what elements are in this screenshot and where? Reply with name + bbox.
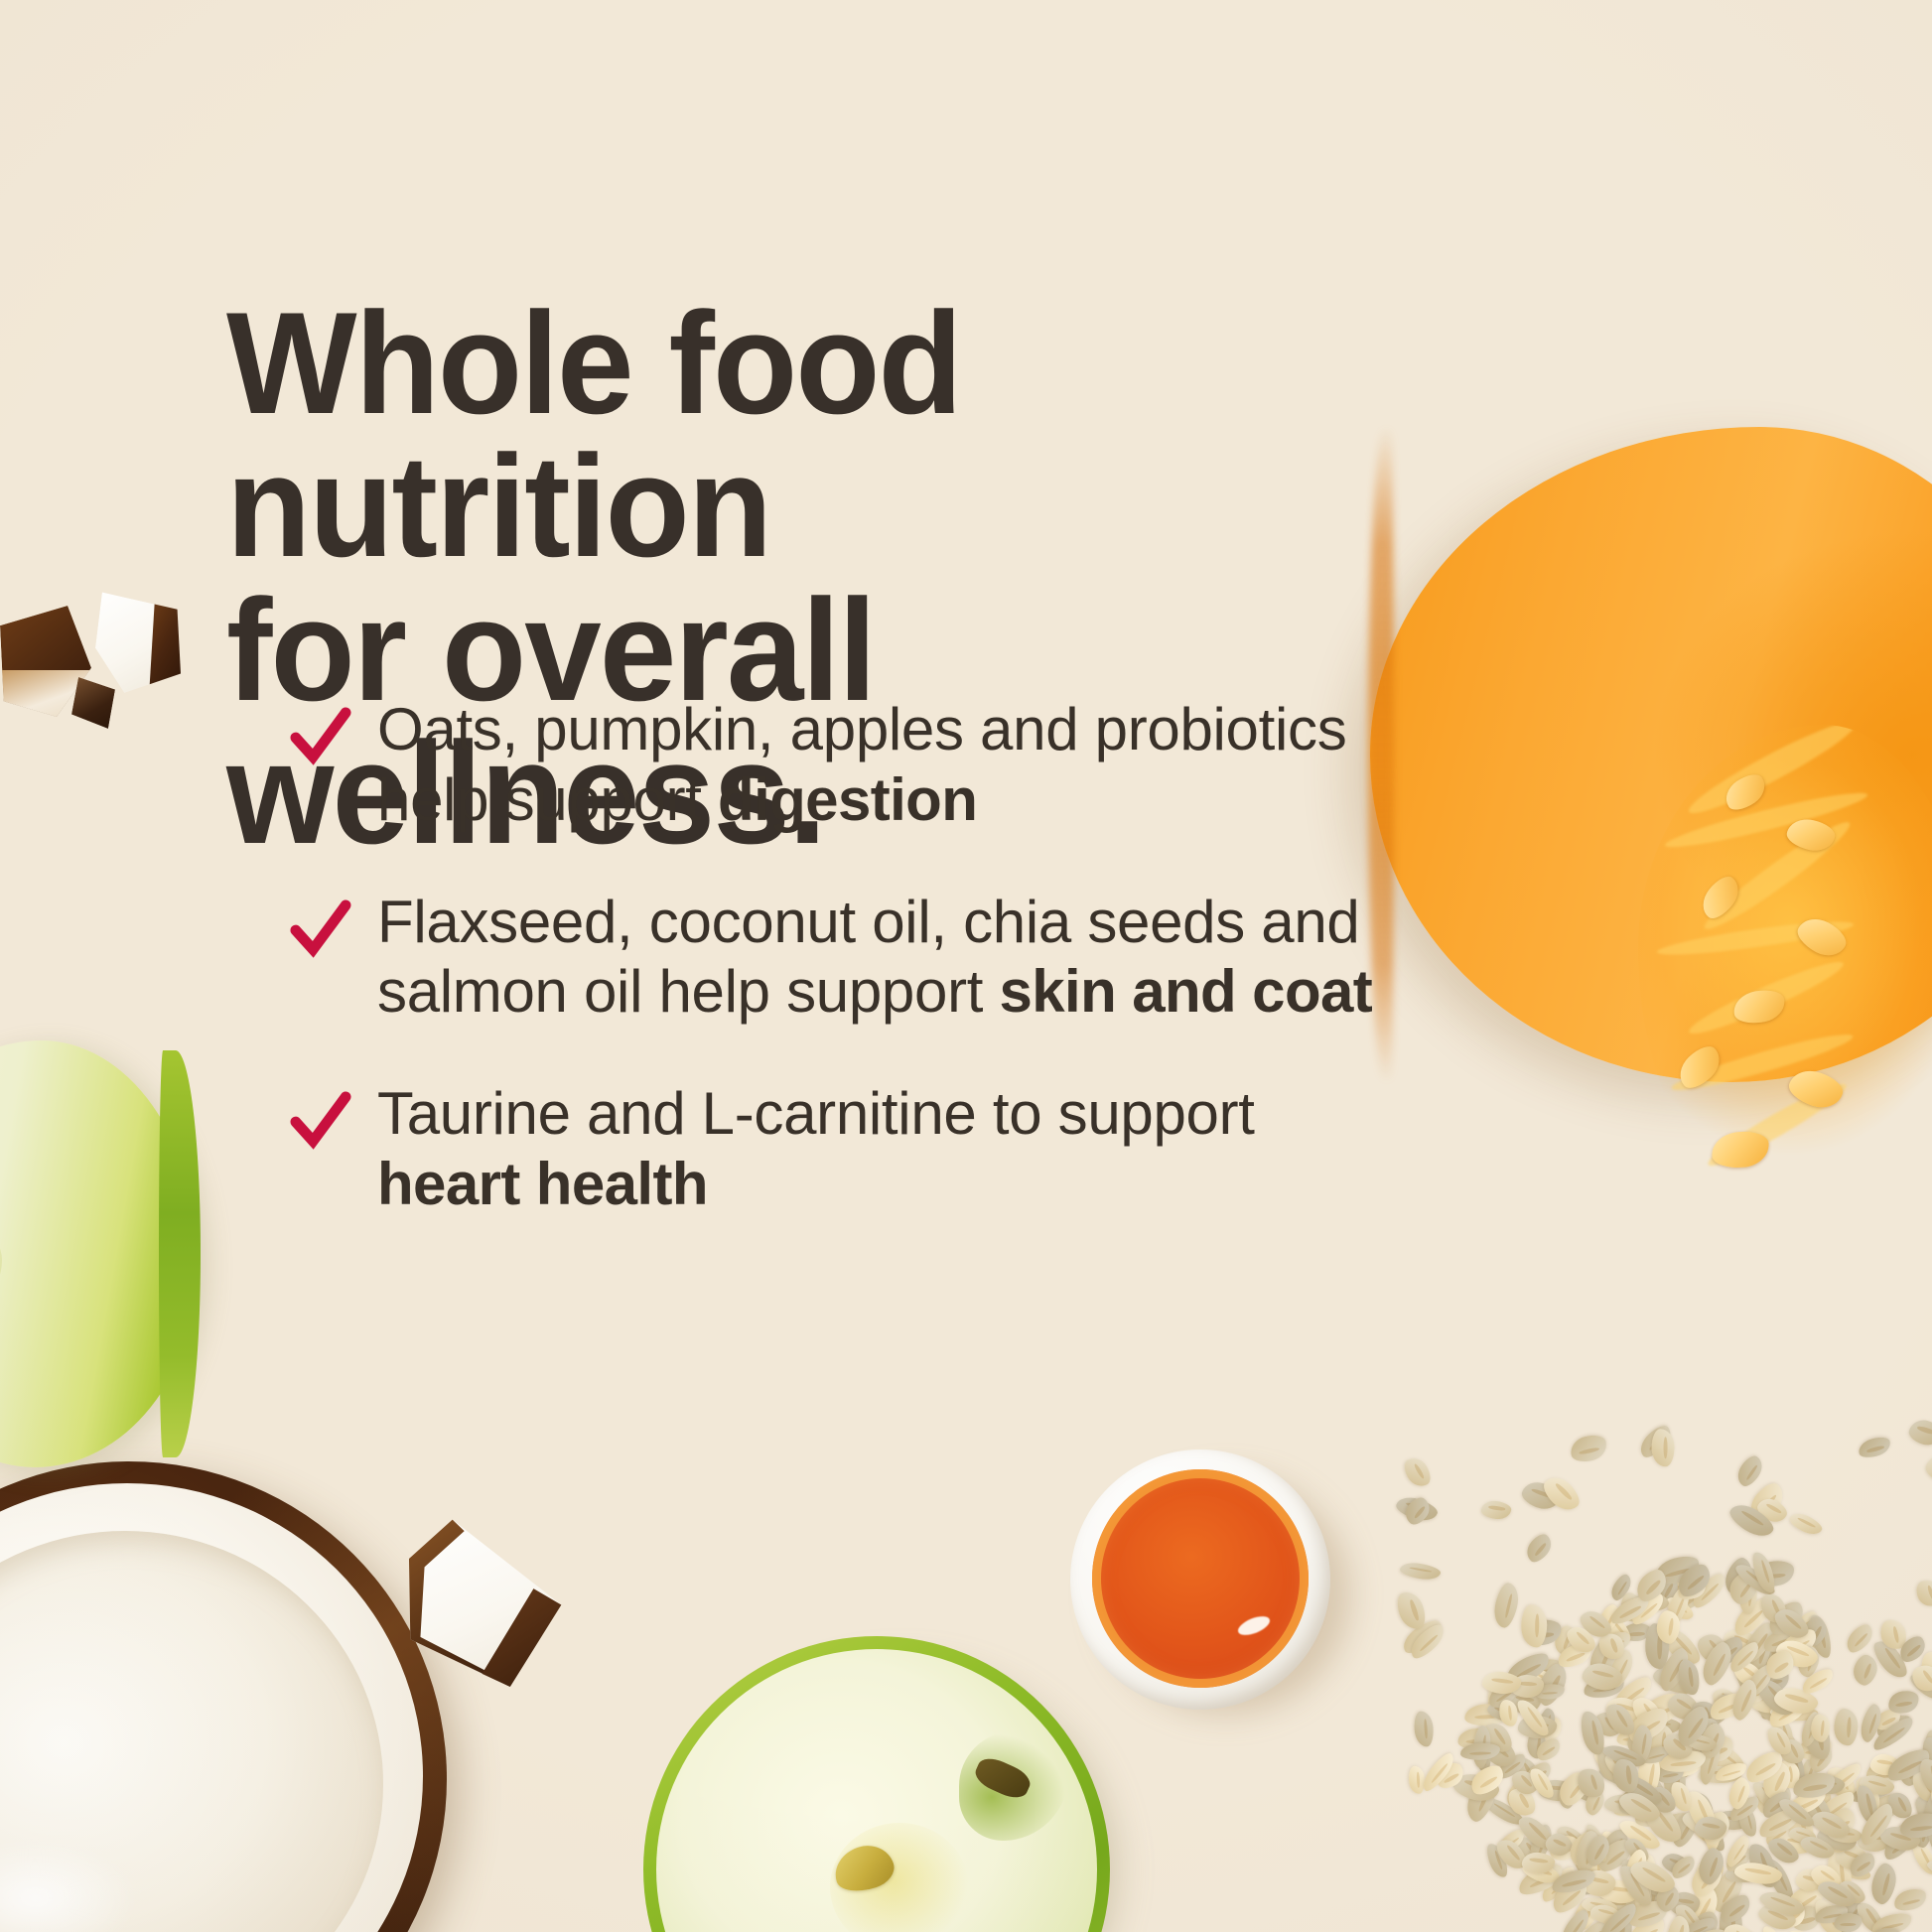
- oat-flake: [1521, 1604, 1547, 1647]
- apple-slice-peel: [159, 1050, 201, 1457]
- oat-flake: [1413, 1711, 1434, 1747]
- oat-flake: [1480, 1499, 1513, 1521]
- list-item-text-emphasis: heart health: [377, 1151, 708, 1217]
- oat-flake: [1521, 1530, 1556, 1566]
- oat-flake: [1887, 1689, 1921, 1716]
- oat-flake: [1834, 1913, 1863, 1932]
- list-item-text: Taurine and L-carnitine to support heart…: [377, 1079, 1402, 1220]
- check-icon: [290, 899, 351, 961]
- coconut-half-photo: [0, 1461, 447, 1932]
- oat-flake: [1732, 1452, 1766, 1489]
- oat-flake: [1842, 1620, 1877, 1656]
- check-icon: [290, 1091, 351, 1153]
- oat-flake: [1408, 1766, 1425, 1795]
- oat-flake: [1490, 1581, 1521, 1629]
- oat-flake: [1787, 1509, 1825, 1538]
- oat-flake: [1569, 1433, 1609, 1465]
- rolled-oats-photo: [1410, 1430, 1932, 1932]
- oat-flake: [1857, 1435, 1892, 1460]
- oat-flake: [1907, 1417, 1932, 1449]
- coconut-chunk-photo: [397, 1509, 577, 1692]
- infographic-canvas: Whole food nutrition for overall wellnes…: [0, 0, 1932, 1932]
- green-apple-slice-photo: [0, 1040, 199, 1467]
- oat-flake: [1651, 1429, 1674, 1466]
- oat-flake: [1399, 1560, 1442, 1582]
- pumpkin-half-photo: [1370, 427, 1932, 1082]
- list-item-text-regular: Taurine and L-carnitine to support: [377, 1080, 1255, 1147]
- oat-flake: [1539, 1471, 1585, 1517]
- oat-flake: [1892, 1886, 1928, 1913]
- coconut-chunk-photo: [95, 586, 181, 693]
- oil-meniscus: [1092, 1469, 1309, 1688]
- salmon-oil-bowl-photo: [1070, 1449, 1330, 1710]
- list-item-text-emphasis: digestion: [718, 766, 977, 833]
- coconut-crumb-photo: [71, 677, 115, 729]
- list-item: Taurine and L-carnitine to support heart…: [290, 1079, 1402, 1220]
- list-item-text: Oats, pumpkin, apples and probiotics hel…: [377, 695, 1402, 836]
- list-item-text-emphasis: skin and coat: [1000, 958, 1373, 1025]
- oat-flake: [1833, 1709, 1859, 1746]
- list-item: Flaxseed, coconut oil, chia seeds and sa…: [290, 888, 1402, 1029]
- green-apple-half-photo: [643, 1636, 1110, 1932]
- oat-flake: [1923, 1451, 1932, 1486]
- oat-flake: [1913, 1577, 1932, 1609]
- check-icon: [290, 707, 351, 768]
- benefits-list: Oats, pumpkin, apples and probiotics hel…: [290, 695, 1402, 1220]
- list-item: Oats, pumpkin, apples and probiotics hel…: [290, 695, 1402, 836]
- oat-flake: [1400, 1453, 1435, 1491]
- list-item-text: Flaxseed, coconut oil, chia seeds and sa…: [377, 888, 1402, 1029]
